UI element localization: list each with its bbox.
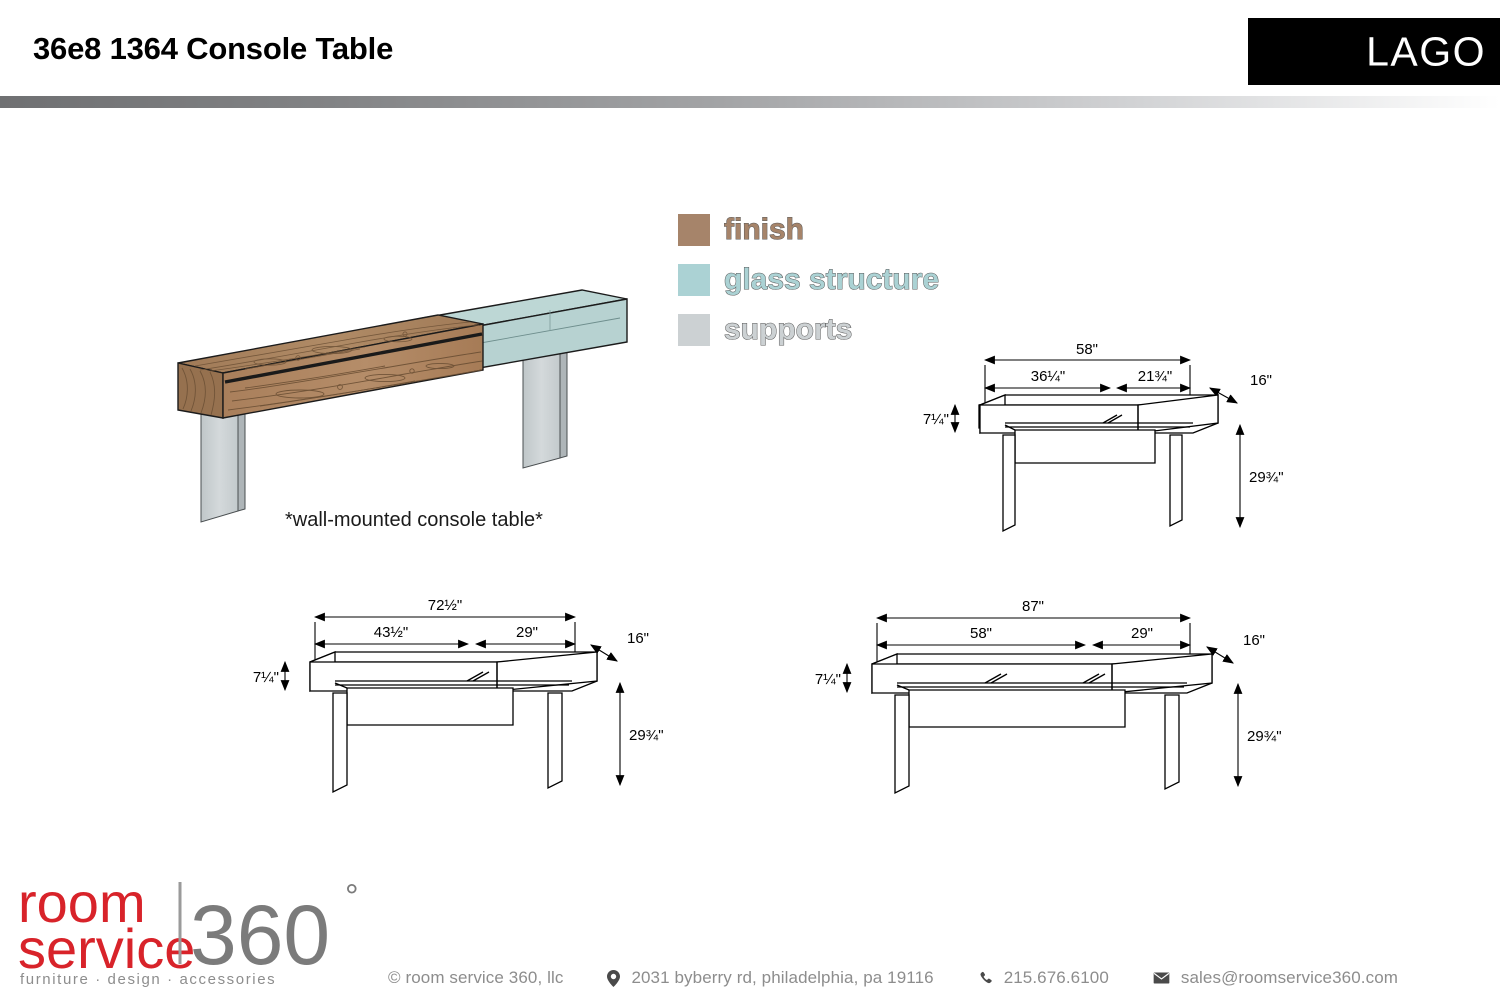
envelope-icon (1153, 972, 1170, 984)
dim-overall-width: 58" (1076, 341, 1098, 358)
legend-label-supports: supports (724, 315, 852, 345)
dim-height: 29¾" (1247, 728, 1282, 745)
console-outline (310, 652, 597, 792)
phone-text: 215.676.6100 (1004, 968, 1109, 988)
dim-overall-width: 87" (1022, 598, 1044, 615)
footer-contact-bar: © room service 360, llc 2031 byberry rd,… (388, 963, 1493, 993)
dim-overall-width: 72½" (428, 597, 463, 614)
logo-number-360: 360 (190, 888, 330, 982)
finish-swatch (678, 214, 710, 246)
dim-right-width: 21¾" (1138, 368, 1173, 385)
dim-top-thickness: 7¼" (253, 669, 279, 686)
finish-wood-slab (178, 315, 483, 418)
legend-label-glass-structure: glass structure (724, 265, 939, 295)
address-item: 2031 byberry rd, philadelphia, pa 19116 (607, 968, 933, 988)
address-text: 2031 byberry rd, philadelphia, pa 19116 (631, 968, 933, 988)
email-item[interactable]: sales@roomservice360.com (1153, 968, 1398, 988)
hero-caption: *wall-mounted console table* (285, 509, 543, 532)
logo-degree-symbol: ° (345, 878, 359, 916)
brand-logo: LAGO (1248, 18, 1500, 85)
dim-height: 29¾" (1249, 469, 1284, 486)
phone-icon (978, 971, 993, 986)
product-render-svg (150, 270, 630, 535)
dim-depth: 16" (1250, 372, 1272, 389)
legend-item-glass-structure: glass structure (678, 255, 939, 305)
supports-swatch (678, 314, 710, 346)
support-leg-right (523, 348, 567, 468)
dimension-drawing-console-87: 87" 58" 29" 16" 7¼" 29¾" (795, 585, 1295, 815)
legend-label-finish: finish (724, 215, 804, 245)
page-title: 36e8 1364 Console Table (33, 31, 393, 67)
company-logo: room service 360 ° furniture · design · … (12, 868, 374, 988)
console-outline (979, 395, 1218, 531)
dimension-drawing-console-58: 58" 36¼" 21¾" 16" 7¼" 29¾" (905, 335, 1305, 550)
dim-left-width: 36¼" (1031, 368, 1066, 385)
brand-logo-text: LAGO (1366, 31, 1486, 72)
header-divider (0, 96, 1500, 108)
location-pin-icon (607, 970, 620, 987)
dim-right-width: 29" (1131, 625, 1153, 642)
dim-left-width: 58" (970, 625, 992, 642)
email-text: sales@roomservice360.com (1181, 968, 1398, 988)
material-legend: finish glass structure supports (678, 205, 939, 355)
dim-depth: 16" (1243, 632, 1265, 649)
glass-structure-swatch (678, 264, 710, 296)
console-outline (872, 654, 1212, 793)
legend-item-finish: finish (678, 205, 939, 255)
logo-tagline: furniture · design · accessories (20, 971, 276, 988)
copyright-notice: © room service 360, llc (388, 968, 563, 988)
legend-item-supports: supports (678, 305, 939, 355)
dimension-drawing-console-72-5: 72½" 43½" 29" 16" 7¼" 29¾" (235, 585, 675, 815)
dim-top-thickness: 7¼" (815, 671, 841, 688)
dim-top-thickness: 7¼" (923, 411, 949, 428)
phone-item[interactable]: 215.676.6100 (978, 968, 1109, 988)
dim-left-width: 43½" (374, 624, 409, 641)
dim-height: 29¾" (629, 727, 664, 744)
dim-right-width: 29" (516, 624, 538, 641)
dim-depth: 16" (627, 630, 649, 647)
copyright-text: © room service 360, llc (388, 968, 563, 988)
product-render-3d (150, 270, 630, 535)
